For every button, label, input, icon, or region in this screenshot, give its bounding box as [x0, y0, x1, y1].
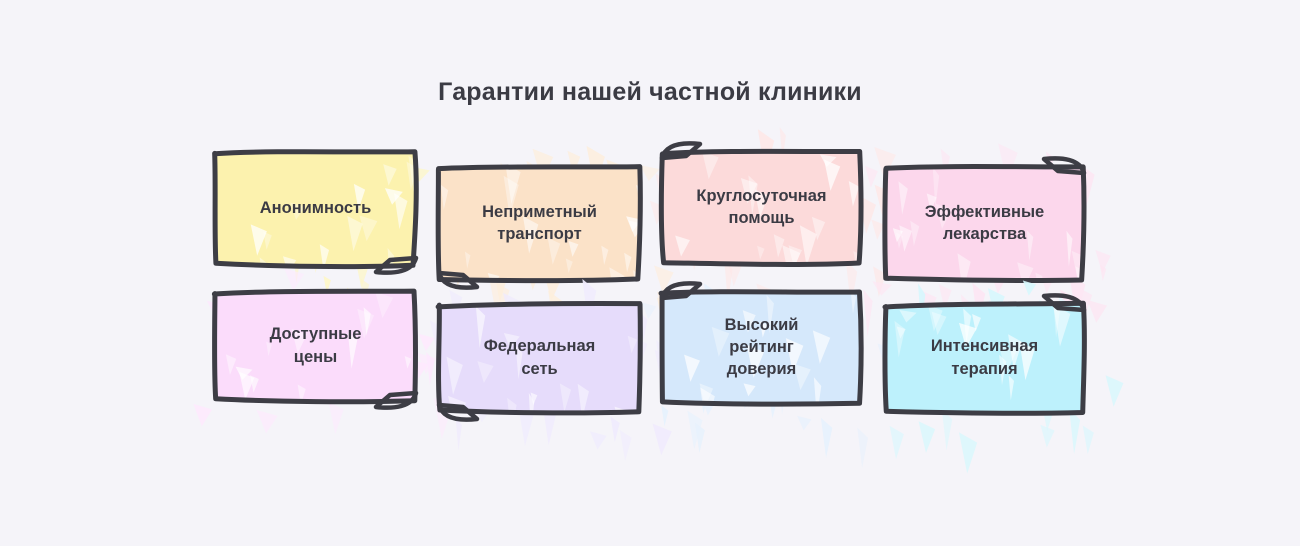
guarantee-card-label-effective-medicines: Эффективные лекарства — [883, 163, 1086, 283]
guarantee-card-label-federal-network: Федеральная сеть — [437, 300, 642, 415]
guarantee-card-label-intensive-therapy: Интенсивная терапия — [883, 300, 1086, 415]
guarantee-card-label-discreet-transport: Неприметный транспорт — [437, 163, 642, 283]
guarantee-card-high-trust-rating: Высокий рейтинг доверия — [660, 288, 863, 406]
guarantee-card-intensive-therapy: Интенсивная терапия — [883, 300, 1086, 415]
guarantee-card-discreet-transport: Неприметный транспорт — [437, 163, 642, 283]
infographic-root: Гарантии нашей частной клиники Анонимнос… — [0, 0, 1300, 546]
guarantee-card-anonymity: Анонимность — [213, 148, 418, 268]
guarantee-card-label-high-trust-rating: Высокий рейтинг доверия — [660, 288, 863, 406]
guarantee-card-label-affordable-prices: Доступные цены — [213, 288, 418, 403]
guarantee-card-affordable-prices: Доступные цены — [213, 288, 418, 403]
guarantee-card-effective-medicines: Эффективные лекарства — [883, 163, 1086, 283]
guarantee-card-label-anonymity: Анонимность — [213, 148, 418, 268]
page-title: Гарантии нашей частной клиники — [0, 78, 1300, 107]
guarantee-card-label-round-the-clock-help: Круглосуточная помощь — [660, 148, 863, 266]
guarantee-card-round-the-clock-help: Круглосуточная помощь — [660, 148, 863, 266]
guarantee-card-federal-network: Федеральная сеть — [437, 300, 642, 415]
